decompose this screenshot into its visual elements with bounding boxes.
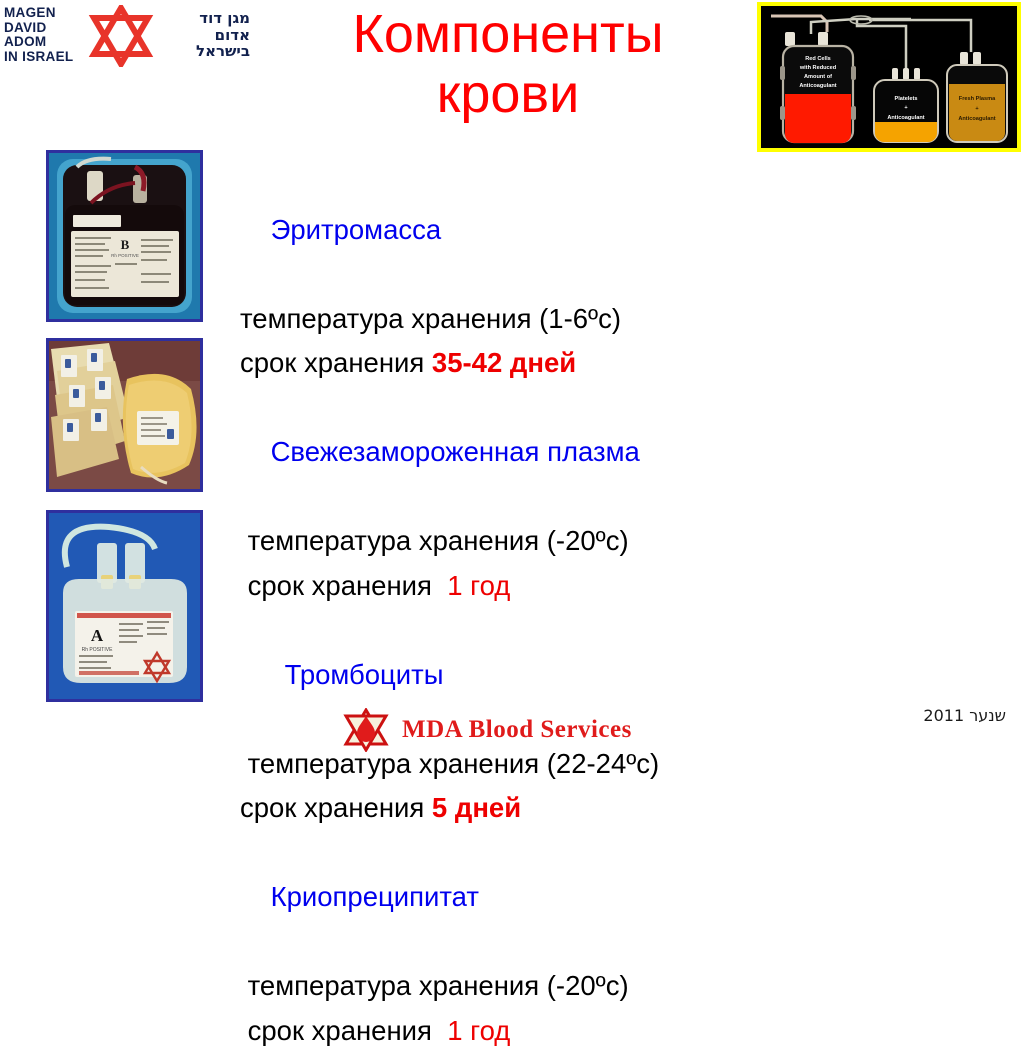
fresh-plasma-bag: Fresh Plasma + Anticoagulant (947, 52, 1007, 142)
mda-logo-latin-line-2: DAVID (4, 21, 84, 36)
svg-text:A: A (91, 626, 104, 645)
photo-cryo: A Rh POSITIVE (46, 510, 203, 702)
page-title: Компоненты крови (268, 4, 748, 124)
blood-separation-diagram: Red Cells with Reduced Amount of Anticoa… (757, 2, 1021, 152)
red-cells-bag: Red Cells with Reduced Amount of Anticoa… (780, 32, 856, 143)
star-of-david-icon (84, 5, 158, 65)
shelf-label-cryoprecipitate: срок хранения (240, 1015, 447, 1046)
platelets-label-line-3: Anticoagulant (887, 115, 924, 121)
mda-logo-hebrew-line-3: בישראל (162, 43, 250, 60)
svg-text:B: B (121, 237, 130, 252)
shelf-value-erythrocytes: 35-42 дней (432, 347, 576, 378)
red-cells-label-line-3: Amount of (804, 74, 832, 80)
component-temperature-erythrocytes: температура хранения (1-6ºc) (240, 297, 800, 342)
mda-logo-hebrew-line-2: אדום (162, 27, 250, 44)
component-block-erythrocytes: Эритромасса (240, 163, 800, 297)
shelf-label-erythrocytes: срок хранения (240, 347, 432, 378)
component-name-plasma: Свежезамороженная плазма (271, 436, 640, 467)
fresh-plasma-label-line-3: Anticoagulant (958, 116, 995, 122)
component-temperature-plasma: температура хранения (-20ºc) (240, 519, 800, 564)
mda-logo-latin-line-4: IN ISRAEL (4, 50, 84, 65)
svg-text:Rh POSITIVE: Rh POSITIVE (111, 253, 139, 258)
mda-logo-latin-text: MAGEN DAVID ADOM IN ISRAEL (4, 6, 84, 64)
component-shelf-cryoprecipitate: срок хранения 1 год (240, 1009, 800, 1053)
shelf-label-platelets: срок хранения (240, 792, 432, 823)
component-block-cryoprecipitate: Криопреципитат (240, 831, 800, 965)
photo-erythrocytes: B Rh POSITIVE (46, 150, 203, 322)
component-name-erythrocytes: Эритромасса (271, 214, 442, 245)
component-temperature-cryoprecipitate: температура хранения (-20ºc) (240, 964, 800, 1009)
red-cells-label-line-4: Anticoagulant (799, 83, 836, 89)
component-block-plasma: Свежезамороженная плазма (240, 386, 800, 520)
component-name-cryoprecipitate: Криопреципитат (271, 881, 479, 912)
mda-logo-latin-line-1: MAGEN (4, 6, 84, 21)
page-title-line-1: Компоненты (268, 4, 748, 64)
page-title-line-2: крови (268, 64, 748, 124)
red-cells-label-line-2: with Reduced (799, 65, 837, 71)
blood-components-list: Эритромасса температура хранения (1-6ºc)… (240, 163, 800, 1053)
svg-text:Rh POSITIVE: Rh POSITIVE (82, 647, 114, 653)
platelets-label-line-1: Platelets (894, 96, 917, 102)
shelf-value-cryoprecipitate: 1 год (447, 1015, 510, 1046)
star-of-david-with-blood-drop-icon (340, 708, 392, 752)
mda-blood-services-logo: MDA Blood Services (340, 706, 670, 754)
platelets-bag: Platelets + Anticoagulant (874, 68, 938, 142)
photo-plasma (46, 338, 203, 492)
component-name-platelets: Тромбоциты (271, 659, 444, 690)
mda-blood-services-label: MDA Blood Services (402, 716, 632, 744)
component-shelf-platelets: срок хранения 5 дней (240, 786, 800, 831)
red-cells-label-line-1: Red Cells (805, 56, 831, 62)
mda-logo-hebrew-line-1: מגן דוד (162, 10, 250, 27)
fresh-plasma-label-line-1: Fresh Plasma (959, 96, 996, 102)
shelf-value-platelets: 5 дней (432, 792, 521, 823)
shelf-value-plasma: 1 год (447, 570, 510, 601)
shelf-label-plasma: срок хранения (240, 570, 447, 601)
mda-logo-hebrew-text: מגן דוד אדום בישראל (162, 10, 250, 60)
mda-logo: MAGEN DAVID ADOM IN ISRAEL מגן דוד אדום … (4, 4, 254, 66)
mda-logo-latin-line-3: ADOM (4, 35, 84, 50)
component-shelf-erythrocytes: срок хранения 35-42 дней (240, 341, 800, 386)
component-shelf-plasma: срок хранения 1 год (240, 564, 800, 609)
footer-year-note: שנער 2011 (923, 706, 1006, 725)
